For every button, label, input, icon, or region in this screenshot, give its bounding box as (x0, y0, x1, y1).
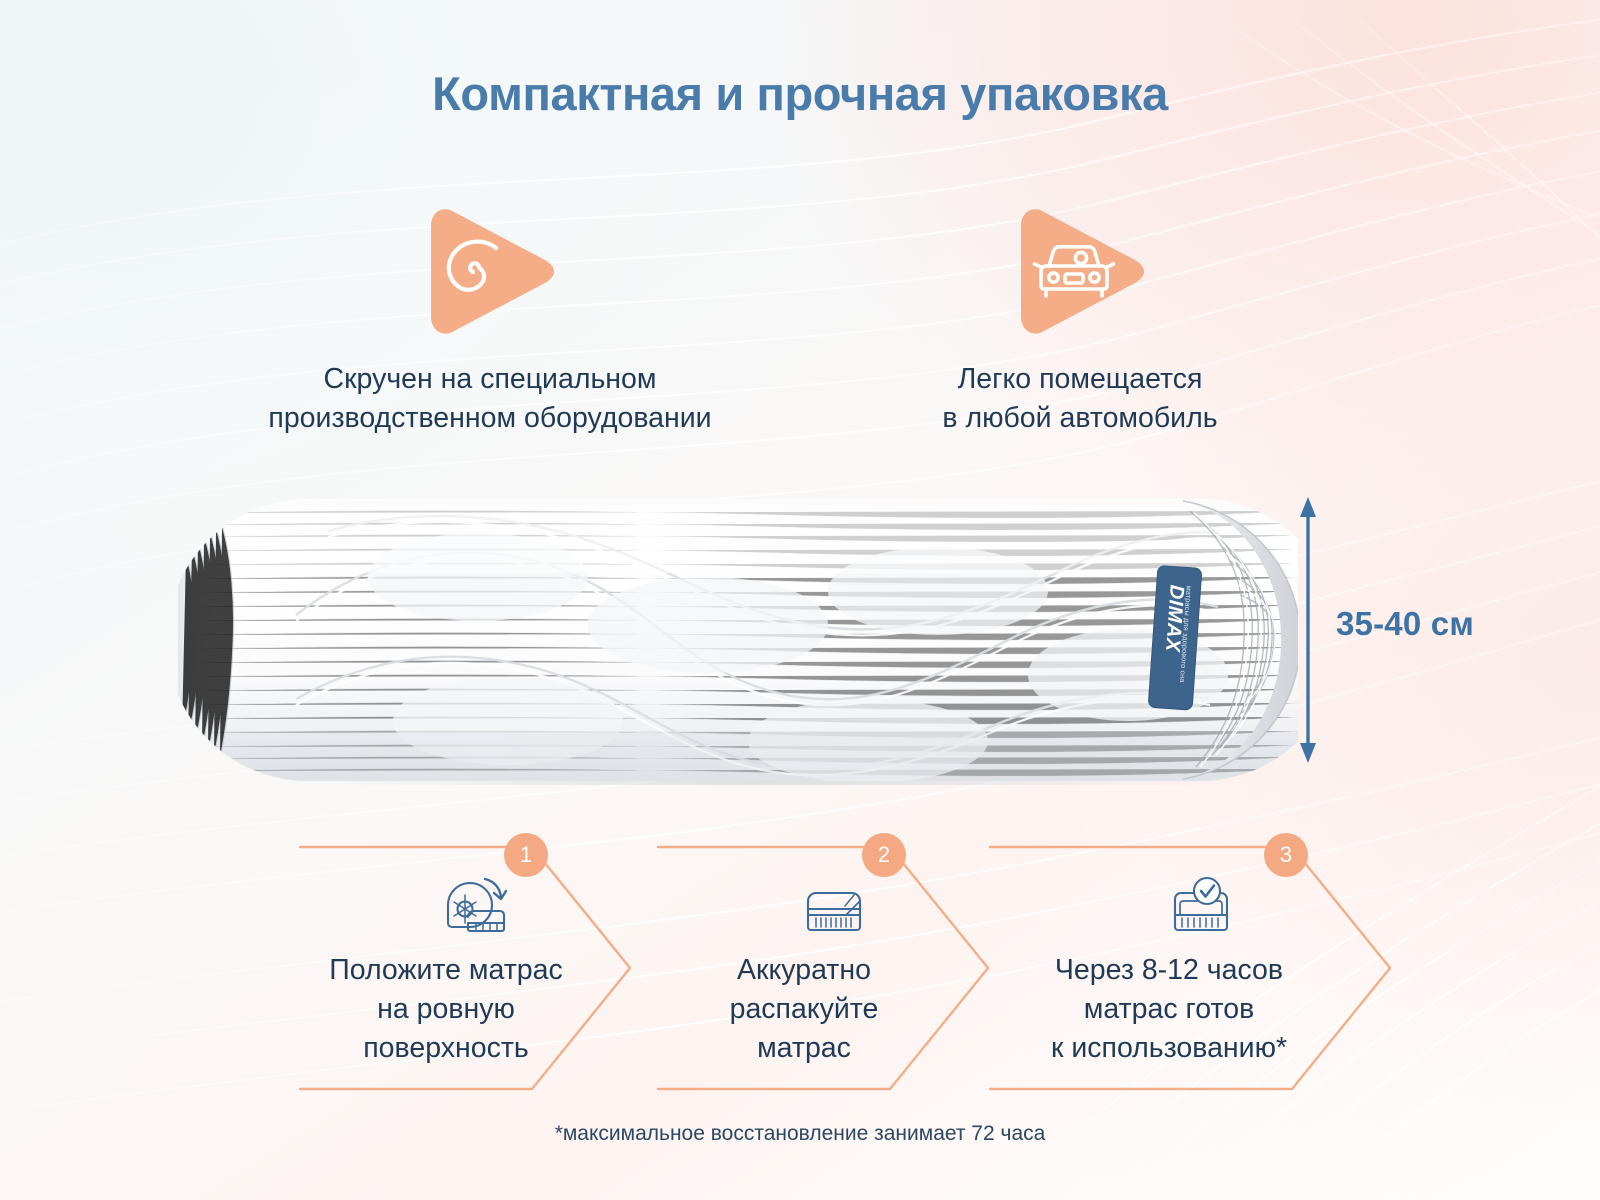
mattress-check-icon (1163, 865, 1239, 941)
feature-block-rolled: Скручен на специальном производственном … (185, 198, 795, 438)
feature-block-car: Легко помещается в любой автомобиль (880, 198, 1280, 438)
page-title: Компактная и прочная упаковка (0, 66, 1600, 121)
feature-badge-rolled (415, 198, 565, 338)
mattress-unwrap-icon (796, 865, 872, 941)
step-number-3: 3 (1264, 833, 1308, 877)
step-text-3: Через 8-12 часов матрас готов к использо… (986, 951, 1352, 1067)
product-mattress-roll: DIMAX матрасы для здорового сна (178, 495, 1298, 785)
feature-badge-car (1005, 198, 1155, 338)
feature-caption-rolled: Скручен на специальном производственном … (185, 360, 795, 438)
footnote: *максимальное восстановление занимает 72… (0, 1122, 1600, 1146)
spiral-roll-icon (415, 198, 565, 338)
rolled-mattress-unroll-icon (438, 865, 514, 941)
feature-caption-car: Легко помещается в любой автомобиль (880, 360, 1280, 438)
dimension-label: 35-40 см (1336, 605, 1474, 643)
steps-group: 1 Положите матрас на ровную поверхность (296, 843, 1306, 1093)
step-item-3: 3 Через 8-12 часов матрас готов к исполь… (986, 843, 1416, 1093)
step-item-1: 1 Положите матрас на ровную поверхность (296, 843, 656, 1093)
step-text-2: Аккуратно распакуйте матрас (654, 951, 954, 1067)
brand-tag: DIMAX матрасы для здорового сна (1148, 565, 1202, 710)
step-text-1: Положите матрас на ровную поверхность (296, 951, 596, 1067)
step-item-2: 2 Аккуратно распакуйте матрас (654, 843, 1014, 1093)
infographic-canvas: Компактная и прочная упаковка Скручен на… (0, 0, 1600, 1200)
car-front-icon (1005, 198, 1155, 338)
